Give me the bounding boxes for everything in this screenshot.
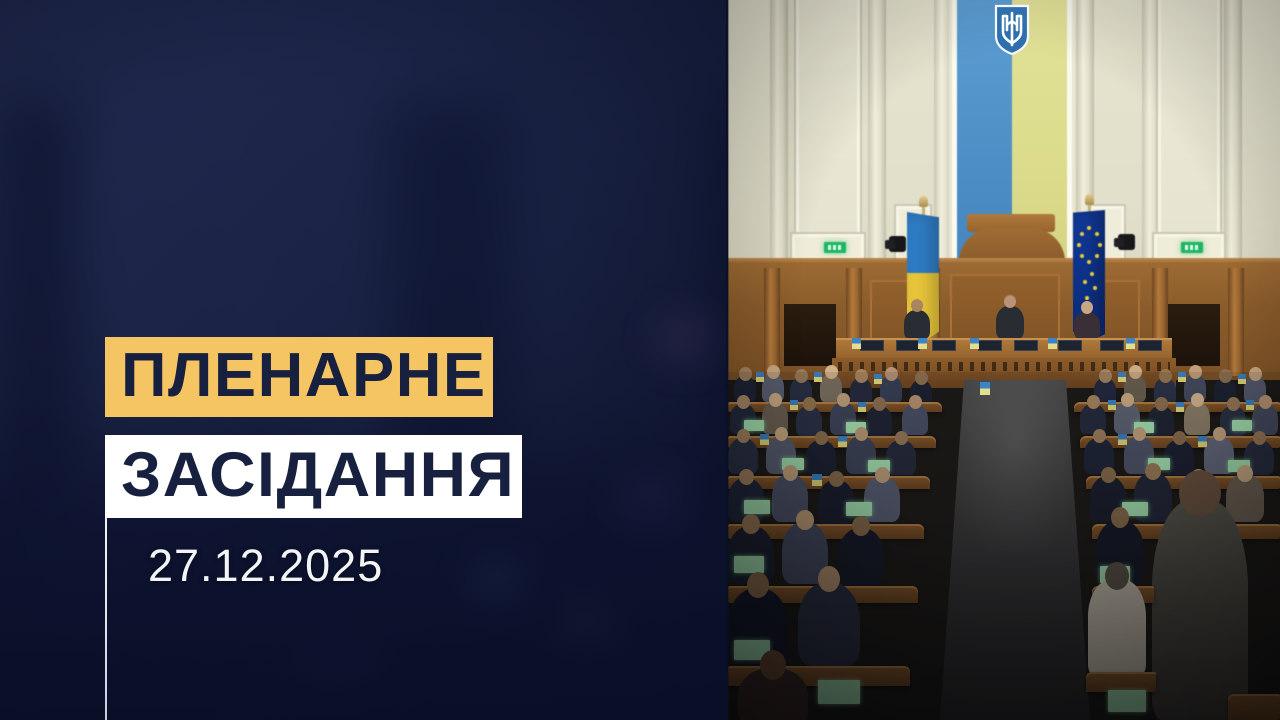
title-line-2: ЗАСІДАННЯ	[121, 445, 515, 506]
right-panel-chamber-photo	[728, 0, 1280, 720]
title-line-1: ПЛЕНАРНЕ	[121, 346, 487, 406]
title-band-primary: ПЛЕНАРНЕ	[105, 337, 493, 417]
vertical-accent-rule	[105, 513, 107, 720]
title-band-secondary: ЗАСІДАННЯ	[105, 435, 522, 518]
panel-seam	[726, 0, 729, 720]
session-date: 27.12.2025	[148, 540, 383, 592]
title-lockup: ПЛЕНАРНЕ ЗАСІДАННЯ	[105, 337, 728, 518]
tryzub-trident-icon	[992, 4, 1032, 56]
chamber-vignette	[728, 0, 1280, 720]
left-panel: ПЛЕНАРНЕ ЗАСІДАННЯ 27.12.2025	[0, 0, 728, 720]
broadcast-title-card: ПЛЕНАРНЕ ЗАСІДАННЯ 27.12.2025	[0, 0, 1280, 720]
